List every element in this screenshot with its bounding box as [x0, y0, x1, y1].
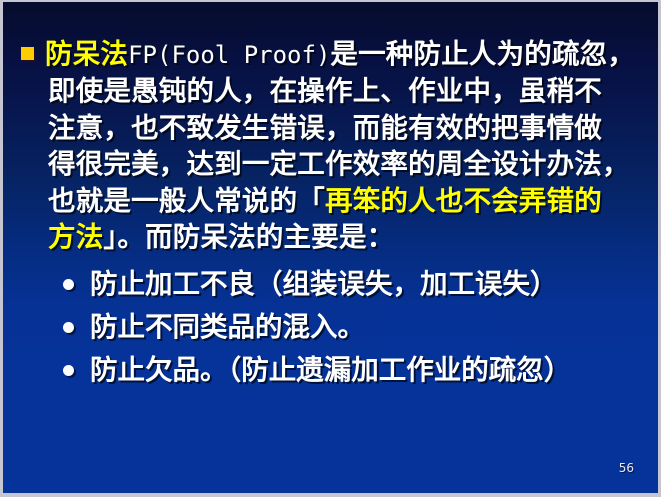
- sub-bullet-list: 防止加工不良（组装误失，加工误失） 防止不同类品的混入。 防止欠品。（防止遗漏加…: [63, 264, 653, 393]
- list-item-label: 防止不同类品的混入。: [90, 307, 365, 347]
- list-item-label: 防止加工不良（组装误失，加工误失）: [90, 264, 558, 304]
- dot-bullet-icon: [63, 279, 74, 290]
- quoted-phrase-part-2: 方法: [48, 221, 103, 253]
- list-item: 防止欠品。（防止遗漏加工作业的疏忽）: [63, 350, 653, 390]
- page-number: 56: [619, 461, 634, 475]
- term-fool-proof-en: FP(Fool Proof): [128, 41, 330, 69]
- paragraph-line-5-head: 也就是一般人常说的「: [48, 185, 325, 217]
- paragraph-line-1-tail: 是一种防止人为的疏忽，: [330, 38, 635, 70]
- quoted-phrase-part-1: 再笨的人也不会弄错的: [325, 185, 602, 217]
- paragraph-line-4: 得很完美，达到一定工作效率的周全设计办法，: [21, 146, 649, 182]
- paragraph-line-6-tail: 」。而防呆法的主要是：: [103, 221, 394, 253]
- paragraph-line-2: 即使是愚钝的人，在操作上、作业中，虽稍不: [21, 73, 649, 109]
- square-bullet-icon: [21, 47, 34, 60]
- dot-bullet-icon: [63, 322, 74, 333]
- list-item-label: 防止欠品。（防止遗漏加工作业的疏忽）: [90, 350, 571, 390]
- paragraph-line-6: 方法」。而防呆法的主要是：: [21, 219, 649, 255]
- main-paragraph: 防呆法FP(Fool Proof)是一种防止人为的疏忽， 即使是愚钝的人，在操作…: [21, 36, 649, 255]
- dot-bullet-icon: [63, 365, 74, 376]
- list-item: 防止不同类品的混入。: [63, 307, 653, 347]
- term-fool-proof-cn: 防呆法: [45, 38, 128, 70]
- slide-canvas: 防呆法FP(Fool Proof)是一种防止人为的疏忽， 即使是愚钝的人，在操作…: [0, 0, 661, 497]
- paragraph-line-1: 防呆法FP(Fool Proof)是一种防止人为的疏忽，: [21, 36, 649, 73]
- paragraph-line-3: 注意，也不致发生错误，而能有效的把事情做: [21, 110, 649, 146]
- paragraph-line-5: 也就是一般人常说的「再笨的人也不会弄错的: [21, 183, 649, 219]
- list-item: 防止加工不良（组装误失，加工误失）: [63, 264, 653, 304]
